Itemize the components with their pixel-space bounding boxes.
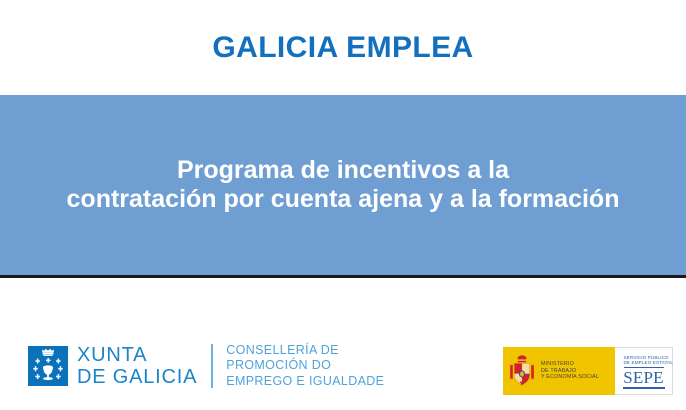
conselleria-line-1: CONSELLERÍA DE <box>226 343 384 358</box>
xunta-wordmark: XUNTA DE GALICIA <box>77 345 197 387</box>
conselleria-wordmark: CONSELLERÍA DE PROMOCIÓN DO EMPREGO E IG… <box>226 343 384 389</box>
conselleria-line-2: PROMOCIÓN DO <box>226 358 384 373</box>
sepe-acronym: SEPE <box>623 369 663 386</box>
spain-coat-of-arms-icon <box>509 353 535 389</box>
sepe-underline <box>623 387 665 389</box>
ministerio-line-3: Y ECONOMÍA SOCIAL <box>541 374 599 381</box>
program-banner: Programa de incentivos a la contratación… <box>0 95 686 278</box>
header-area: GALICIA EMPLEA <box>0 0 686 95</box>
banner-subtitle-line-1: Programa de incentivos a la <box>177 156 509 186</box>
xunta-word-line-2: DE GALICIA <box>77 367 197 387</box>
ministerio-line-1: MINISTERIO <box>541 361 599 368</box>
page-title: GALICIA EMPLEA <box>212 31 473 65</box>
xunta-word-line-1: XUNTA <box>77 345 197 365</box>
logo-divider <box>211 344 213 388</box>
footer-logos: XUNTA DE GALICIA CONSELLERÍA DE PROMOCIÓ… <box>0 281 686 410</box>
conselleria-line-3: EMPREGO E IGUALDADE <box>226 374 384 389</box>
banner-subtitle-line-2: contratación por cuenta ajena y a la for… <box>67 185 620 215</box>
sepe-tagline-line-2: DE EMPLEO ESTATAL <box>624 360 674 366</box>
xunta-de-galicia-logo: XUNTA DE GALICIA CONSELLERÍA DE PROMOCIÓ… <box>28 343 384 389</box>
ministerio-de-trabajo-logo: MINISTERIO DE TRABAJO Y ECONOMÍA SOCIAL <box>503 347 615 395</box>
sepe-tagline: SERVICIO PÚBLICO DE EMPLEO ESTATAL <box>624 355 664 366</box>
xunta-coat-of-arms-icon <box>28 346 68 386</box>
ministerio-wordmark: MINISTERIO DE TRABAJO Y ECONOMÍA SOCIAL <box>541 361 599 381</box>
sepe-logo: SERVICIO PÚBLICO DE EMPLEO ESTATAL SEPE <box>615 347 673 395</box>
gobierno-de-espana-logo-group: MINISTERIO DE TRABAJO Y ECONOMÍA SOCIAL … <box>503 347 673 395</box>
